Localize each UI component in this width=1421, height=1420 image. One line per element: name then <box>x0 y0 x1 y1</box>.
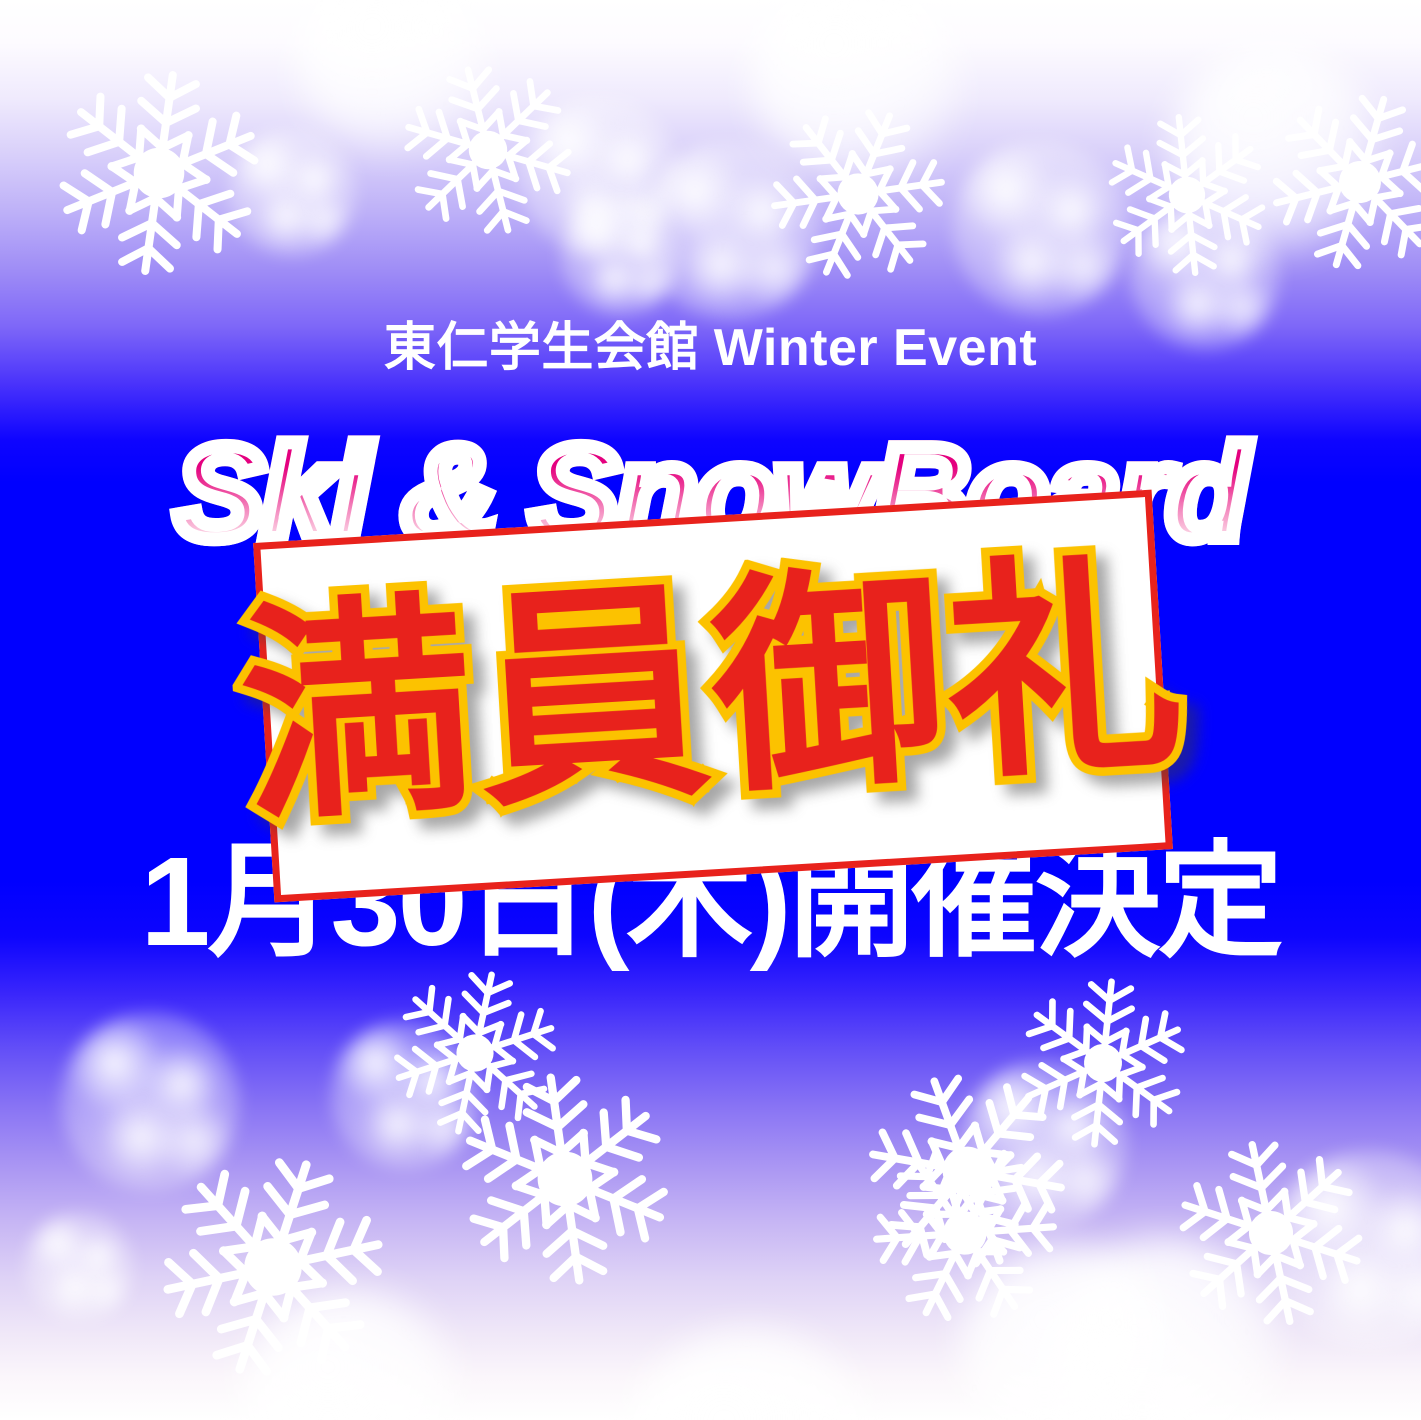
winter-event-poster: 東仁学生会館 Winter Event Ski & SnowBoard 1月30… <box>0 0 1421 1420</box>
sold-out-stamp-text: 満員御礼 <box>235 548 1191 836</box>
event-header: 東仁学生会館 Winter Event <box>0 322 1421 374</box>
sold-out-stamp: 満員御礼 <box>253 490 1173 903</box>
